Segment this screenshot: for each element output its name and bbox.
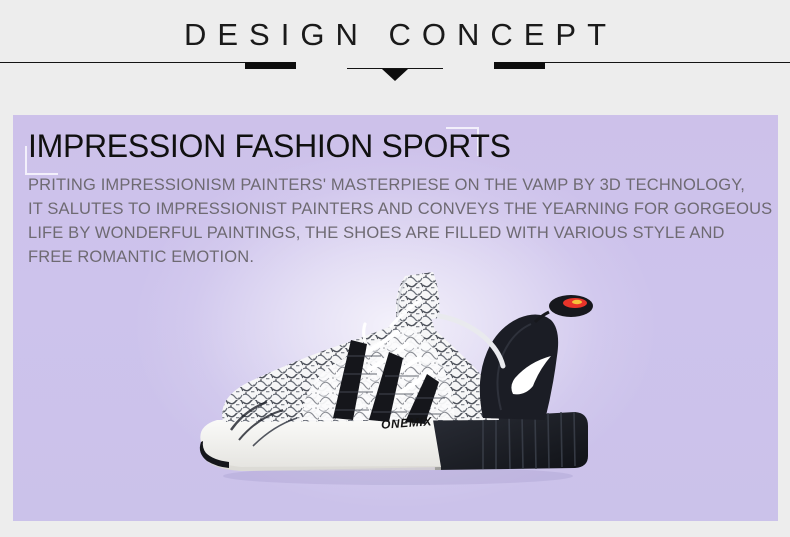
header-divider [0, 62, 790, 88]
divider-rule-right [545, 62, 790, 63]
panel-title-block: IMPRESSION FASHION SPORTS [21, 126, 491, 171]
panel-heading: IMPRESSION FASHION SPORTS [28, 126, 511, 166]
shoe-illustration [183, 270, 613, 500]
product-image: ONEMIX [183, 270, 613, 500]
divider-accent-bar-right [494, 62, 545, 69]
design-concept-panel: IMPRESSION FASHION SPORTS PRITING IMPRES… [13, 115, 778, 521]
panel-description: PRITING IMPRESSIONISM PAINTERS' MASTERPI… [28, 173, 768, 269]
pull-tab-highlight [572, 300, 582, 304]
description-line-2: IT SALUTES TO IMPRESSIONIST PAINTERS AND… [28, 197, 768, 221]
page-title: DESIGN CONCEPT [0, 17, 790, 53]
divider-rule-left [0, 62, 245, 63]
page-header: DESIGN CONCEPT [0, 0, 790, 112]
description-line-1: PRITING IMPRESSIONISM PAINTERS' MASTERPI… [28, 173, 768, 197]
heel-counter [480, 314, 558, 420]
description-line-4: FREE ROMANTIC EMOTION. [28, 245, 768, 269]
chevron-down-icon [382, 69, 408, 81]
description-line-3: LIFE BY WONDERFUL PAINTINGS, THE SHOES A… [28, 221, 768, 245]
divider-accent-bar-left [245, 62, 296, 69]
